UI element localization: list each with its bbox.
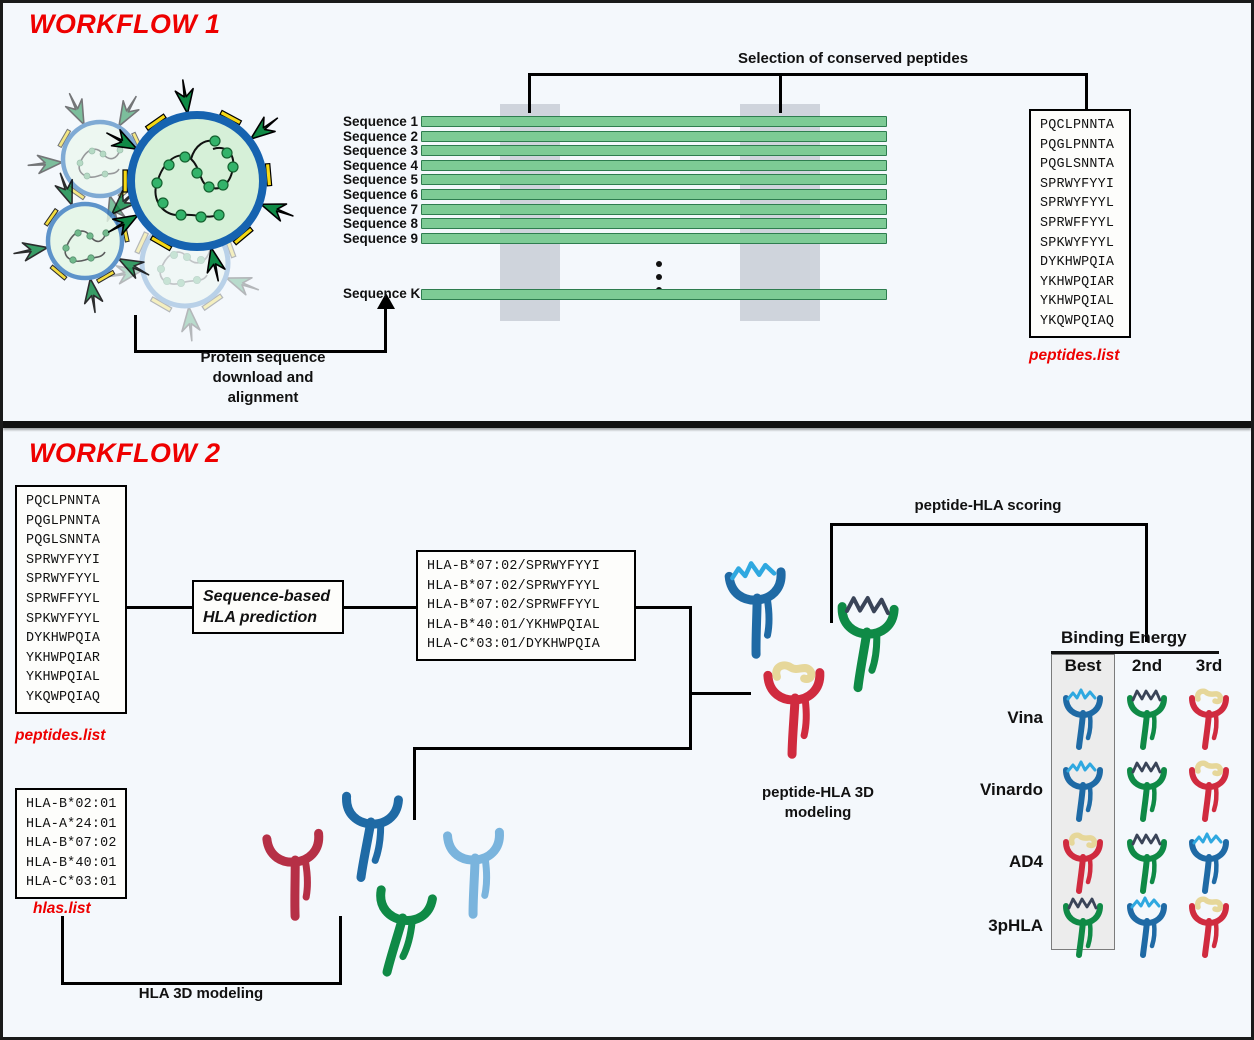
hla-modeling-bracket-right [339,916,342,985]
connector-peptides-to-prediction [127,606,192,609]
hla-complex-icon [1183,758,1235,822]
list-item: PQGLSNNTA [1040,155,1121,175]
list-item: PQCLPNNTA [26,492,117,512]
workflow-1-panel: WORKFLOW 1 [3,3,1251,421]
complex-modeling-caption: peptide-HLA 3D modeling [703,783,933,823]
peptide-hla-complex-cluster [703,538,933,788]
list-item: SPRWYFYYI [26,551,117,571]
list-item: YKHWPQIAL [26,668,117,688]
complex-caption-line2: modeling [703,803,933,823]
list-item: YKHWPQIAR [1040,273,1121,293]
list-item: HLA-B*02:01 [26,795,117,815]
panel-divider [3,421,1251,428]
sequence-bar [421,233,887,244]
hlas-list-box: HLA-B*02:01HLA-A*24:01HLA-B*07:02HLA-B*4… [15,788,127,899]
connector-prediction-to-pairs [344,606,416,609]
selection-bracket-top [528,73,1088,76]
sequence-bar [421,160,887,171]
binding-energy-title: Binding Energy [1061,628,1187,648]
binding-energy-row-vinardo: Vinardo [943,780,1043,800]
workflow-figure: WORKFLOW 1 [0,0,1254,1040]
sequence-bar [421,204,887,215]
download-caption-line2: download and [163,368,363,388]
prediction-line1: Sequence-based [203,586,330,607]
list-item: PQGLPNNTA [26,512,117,532]
list-item: HLA-B*07:02/SPRWYFYYI [427,557,626,577]
list-item: HLA-C*03:01 [26,873,117,893]
sequence-bar [421,116,887,127]
scoring-bracket-left [830,523,833,623]
download-bracket-left [134,315,137,353]
list-item: HLA-B*07:02/SPRWFFYYL [427,596,626,616]
binding-energy-row-vina: Vina [943,708,1043,728]
scoring-bracket-right [1145,523,1148,642]
list-item: HLA-A*24:01 [26,815,117,835]
list-item: PQCLPNNTA [1040,116,1121,136]
hla-complex-icon [1183,686,1235,750]
virus-particles-icon [25,81,325,381]
scoring-caption: peptide-HLA scoring [843,496,1133,516]
hla-complex-icon [1057,686,1109,750]
download-caption: Protein sequence download and alignment [163,348,363,408]
connector-vertical-merge [689,606,692,750]
download-caption-line1: Protein sequence [163,348,363,368]
hla-modeling-caption: HLA 3D modeling [101,984,301,1004]
download-bracket-right [384,306,387,352]
list-item: YKQWPQIAQ [1040,312,1121,332]
hla-complex-icon [1183,830,1235,894]
sequence-row-label: Sequence 1 [343,114,415,129]
hla-complex-icon [1057,830,1109,894]
workflow-2-title: WORKFLOW 2 [29,438,220,469]
sequence-row-label: Sequence 8 [343,216,415,231]
hla-complex-icon [1183,894,1235,958]
binding-energy-column-3rd: 3rd [1177,656,1241,676]
hla-complex-icon [1121,758,1173,822]
list-item: HLA-B*40:01 [26,854,117,874]
workflow-1-title: WORKFLOW 1 [29,9,220,40]
peptides-list-box-wf1: PQCLPNNTAPQGLPNNTAPQGLSNNTASPRWYFYYISPRW… [1029,109,1131,338]
peptides-file-label-wf2: peptides.list [15,727,105,745]
sequence-row-label: Sequence 9 [343,231,415,246]
sequence-row-label: Sequence 6 [343,187,415,202]
binding-energy-table: Binding Energy Best2nd3rd VinaVinardoAD4… [943,628,1233,958]
list-item: YKHWPQIAR [26,649,117,669]
sequence-row-label: Sequence 4 [343,158,415,173]
peptides-list-box-wf2: PQCLPNNTAPQGLPNNTAPQGLSNNTASPRWYFYYISPRW… [15,485,127,714]
peptides-file-label-wf1: peptides.list [1029,347,1119,365]
binding-energy-column-2nd: 2nd [1115,656,1179,676]
sequence-row-label: Sequence 3 [343,143,415,158]
list-item: SPRWYFYYI [1040,175,1121,195]
list-item: DYKHWPQIA [1040,253,1121,273]
selection-bracket-tick-2 [779,73,782,113]
list-item: SPRWFFYYL [1040,214,1121,234]
list-item: SPKWYFYYL [1040,234,1121,254]
binding-energy-column-best: Best [1051,656,1115,676]
list-item: SPRWYFYYL [1040,194,1121,214]
list-item: YKQWPQIAQ [26,688,117,708]
list-item: PQGLPNNTA [1040,136,1121,156]
download-caption-line3: alignment [163,388,363,408]
sequence-based-hla-prediction-box: Sequence-based HLA prediction [192,580,344,634]
sequence-row-label: Sequence 5 [343,172,415,187]
workflow-2-panel: WORKFLOW 2 PQCLPNNTAPQGLPNNTAPQGLSNNTASP… [3,428,1251,1037]
hla-peptide-pairs-box: HLA-B*07:02/SPRWYFYYIHLA-B*07:02/SPRWYFY… [416,550,636,661]
selection-label: Selection of conserved peptides [633,49,1073,69]
hla-complex-icon [1057,894,1109,958]
list-item: HLA-C*03:01/DYKHWPQIA [427,635,626,655]
list-item: DYKHWPQIA [26,629,117,649]
list-item: SPRWYFYYL [26,570,117,590]
list-item: YKHWPQIAL [1040,292,1121,312]
list-item: HLA-B*40:01/YKHWPQIAL [427,616,626,636]
selection-bracket-right [1085,73,1088,110]
sequence-row-label: Sequence 7 [343,202,415,217]
scoring-bracket-top [830,523,1148,526]
selection-bracket-tick-1 [528,73,531,113]
sequence-bar [421,189,887,200]
list-item: SPRWFFYYL [26,590,117,610]
prediction-line2: HLA prediction [203,607,317,628]
sequence-row-label-k: Sequence K [343,286,415,301]
sequence-bar [421,145,887,156]
binding-energy-row-3phla: 3pHLA [943,916,1043,936]
sequence-row-label: Sequence 2 [343,129,415,144]
hla-modeling-bracket-left [61,916,64,985]
binding-energy-row-ad4: AD4 [943,852,1043,872]
sequence-bar-k [421,289,887,300]
sequence-bar [421,174,887,185]
list-item: HLA-B*07:02 [26,834,117,854]
hla-complex-icon [1057,758,1109,822]
hla-complex-icon [1121,894,1173,958]
hla-3d-models-cluster [243,748,523,988]
list-item: HLA-B*07:02/SPRWYFYYL [427,577,626,597]
complex-caption-line1: peptide-HLA 3D [703,783,933,803]
sequence-bar [421,218,887,229]
sequence-bar [421,131,887,142]
connector-pairs-right [636,606,691,609]
list-item: PQGLSNNTA [26,531,117,551]
hla-complex-icon [1121,830,1173,894]
list-item: SPKWYFYYL [26,610,117,630]
hla-complex-icon [1121,686,1173,750]
